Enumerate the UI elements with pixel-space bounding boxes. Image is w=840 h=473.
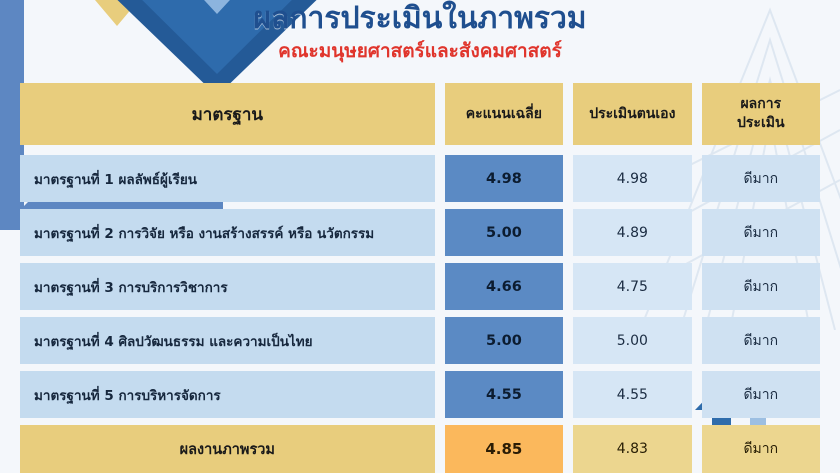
row-self-assessment: 4.89 [573, 209, 691, 256]
row-standard-label: มาตรฐานที่ 5 การบริหารจัดการ [20, 371, 435, 418]
summary-self-assessment: 4.83 [573, 425, 691, 473]
row-average-score: 4.98 [445, 155, 563, 202]
row-self-assessment: 4.75 [573, 263, 691, 310]
row-self-assessment: 4.98 [573, 155, 691, 202]
column-header-assessment-result: ผลการ ประเมิน [702, 83, 820, 145]
row-average-score: 4.55 [445, 371, 563, 418]
row-assessment-result: ดีมาก [702, 317, 820, 364]
evaluation-results-table: มาตรฐาน คะแนนเฉลี่ย ประเมินตนเอง ผลการ ป… [20, 83, 820, 473]
row-assessment-result: ดีมาก [702, 263, 820, 310]
page-title: ผลการประเมินในภาพรวม [0, 2, 840, 36]
row-assessment-result: ดีมาก [702, 155, 820, 202]
column-header-standard: มาตรฐาน [20, 83, 435, 145]
table-row: มาตรฐานที่ 3 การบริการวิชาการ 4.66 4.75 … [20, 263, 820, 310]
row-self-assessment: 5.00 [573, 317, 691, 364]
row-standard-label: มาตรฐานที่ 1 ผลลัพธ์ผู้เรียน [20, 155, 435, 202]
row-average-score: 4.66 [445, 263, 563, 310]
row-average-score: 5.00 [445, 209, 563, 256]
table-header-row: มาตรฐาน คะแนนเฉลี่ย ประเมินตนเอง ผลการ ป… [20, 83, 820, 145]
row-average-score: 5.00 [445, 317, 563, 364]
slide-canvas: ผลการประเมินในภาพรวม คณะมนุษยศาสตร์และสั… [0, 0, 840, 473]
summary-assessment-result: ดีมาก [702, 425, 820, 473]
table-row: มาตรฐานที่ 5 การบริหารจัดการ 4.55 4.55 ด… [20, 371, 820, 418]
row-standard-label: มาตรฐานที่ 4 ศิลปวัฒนธรรม และความเป็นไทย [20, 317, 435, 364]
summary-label: ผลงานภาพรวม [20, 425, 435, 473]
row-standard-label: มาตรฐานที่ 3 การบริการวิชาการ [20, 263, 435, 310]
title-block: ผลการประเมินในภาพรวม คณะมนุษยศาสตร์และสั… [0, 2, 840, 62]
row-standard-label: มาตรฐานที่ 2 การวิจัย หรือ งานสร้างสรรค์… [20, 209, 435, 256]
column-header-assessment-result-line1: ผลการ [740, 95, 781, 114]
table-row: มาตรฐานที่ 2 การวิจัย หรือ งานสร้างสรรค์… [20, 209, 820, 256]
table-summary-row: ผลงานภาพรวม 4.85 4.83 ดีมาก [20, 425, 820, 473]
page-subtitle: คณะมนุษยศาสตร์และสังคมศาสตร์ [0, 40, 840, 63]
table-row: มาตรฐานที่ 1 ผลลัพธ์ผู้เรียน 4.98 4.98 ด… [20, 155, 820, 202]
column-header-average-score: คะแนนเฉลี่ย [445, 83, 563, 145]
table-row: มาตรฐานที่ 4 ศิลปวัฒนธรรม และความเป็นไทย… [20, 317, 820, 364]
row-assessment-result: ดีมาก [702, 371, 820, 418]
column-header-assessment-result-line2: ประเมิน [737, 114, 785, 133]
summary-average-score: 4.85 [445, 425, 563, 473]
row-assessment-result: ดีมาก [702, 209, 820, 256]
column-header-self-assessment: ประเมินตนเอง [573, 83, 691, 145]
row-self-assessment: 4.55 [573, 371, 691, 418]
